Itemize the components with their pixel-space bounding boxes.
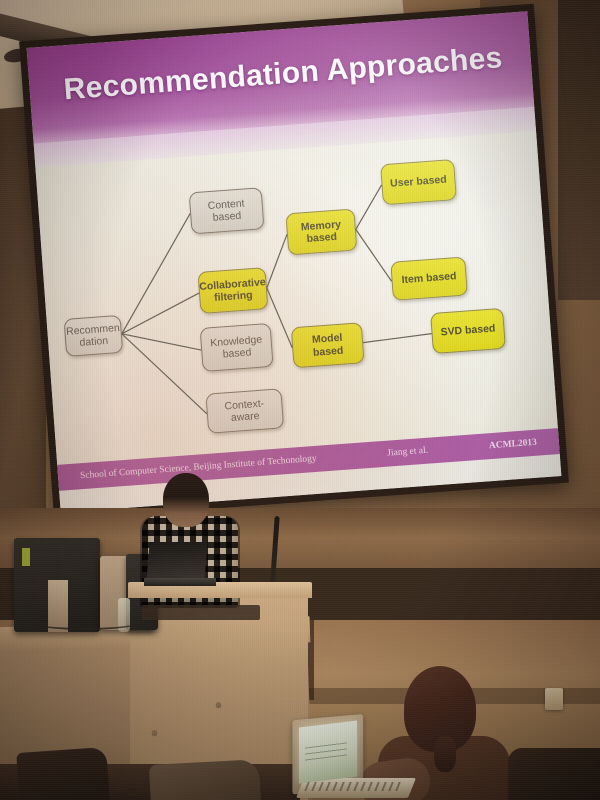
light-switch[interactable] bbox=[545, 688, 563, 710]
diagram-edges bbox=[27, 11, 562, 513]
edge-collaborative-memory bbox=[263, 234, 291, 288]
wall-right-shadow bbox=[558, 0, 600, 300]
presentation-slide: Recommendation Approaches Recommen datio… bbox=[27, 11, 562, 513]
desk-cable bbox=[30, 614, 140, 630]
lecture-hall-photo: Recommendation Approaches Recommen datio… bbox=[0, 0, 600, 800]
edge-root-context bbox=[122, 328, 207, 420]
chair-right bbox=[508, 748, 600, 800]
edge-root-knowledge bbox=[122, 328, 201, 356]
podium-screw bbox=[216, 702, 221, 707]
monitor-sticker bbox=[22, 548, 30, 566]
edge-collaborative-model bbox=[267, 287, 292, 350]
presenter-head bbox=[163, 473, 209, 527]
podium-screw bbox=[152, 730, 157, 735]
presenter-laptop-base bbox=[144, 578, 216, 586]
presenter-laptop-lid bbox=[146, 542, 207, 582]
edge-model-svd bbox=[363, 334, 432, 343]
podium-nameplate bbox=[142, 605, 260, 620]
chair-middle bbox=[149, 759, 261, 800]
edge-memory-user bbox=[353, 185, 385, 230]
edge-memory-item bbox=[356, 227, 392, 284]
audience-ponytail bbox=[434, 736, 456, 772]
edge-root-collaborative bbox=[119, 293, 201, 334]
audience-laptop-keyboard bbox=[304, 782, 404, 791]
projection-screen-frame: Recommendation Approaches Recommen datio… bbox=[19, 4, 569, 521]
chair-left bbox=[16, 747, 110, 800]
